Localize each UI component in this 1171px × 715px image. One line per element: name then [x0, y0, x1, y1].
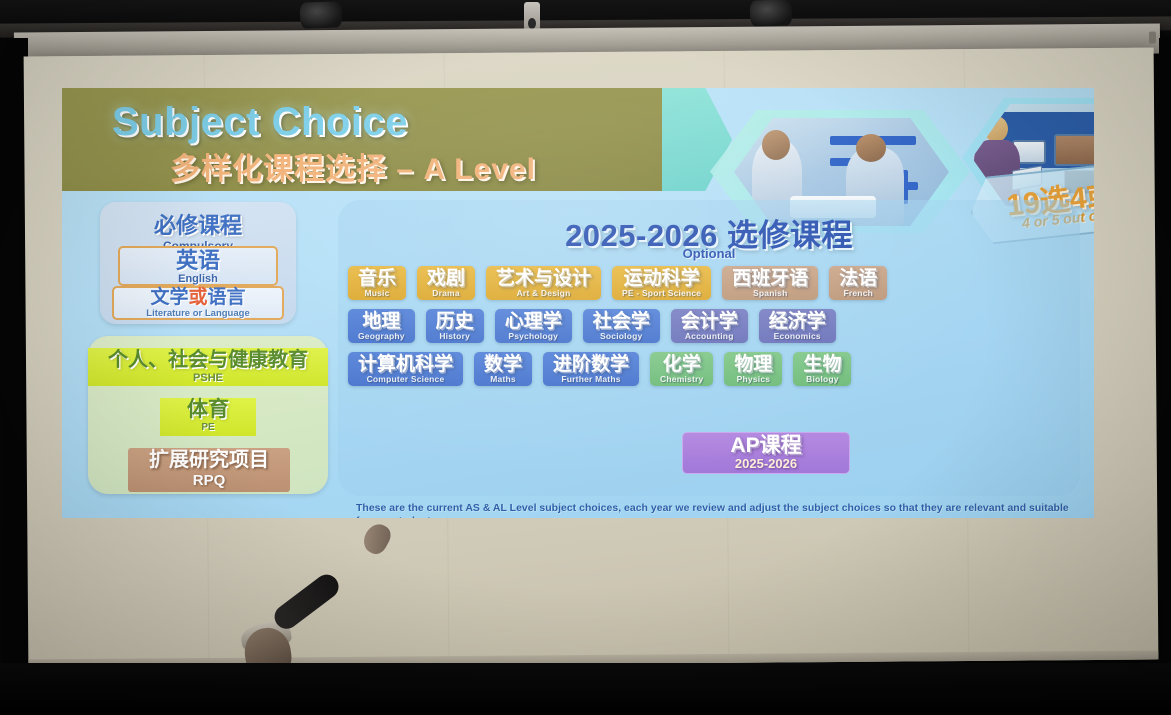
subject-chip-sociology[interactable]: 社会学Sociology	[583, 309, 660, 343]
subject-chip-chinese: 法语	[839, 269, 877, 288]
subject-chip-chinese: 计算机科学	[358, 355, 453, 374]
subject-chip-english: History	[439, 331, 470, 341]
subject-chip-chinese: 社会学	[593, 312, 650, 331]
rpq-chinese: 扩展研究项目	[128, 448, 290, 472]
subject-chip-economics[interactable]: 经济学Economics	[759, 309, 836, 343]
subject-chip-accounting[interactable]: 会计学Accounting	[671, 309, 748, 343]
subject-chip-chinese: 生物	[803, 355, 841, 374]
compulsory-heading-chinese: 必修课程	[100, 208, 296, 240]
subject-pe: 体育 PE	[160, 398, 256, 436]
subject-chip-chinese: 经济学	[769, 312, 826, 331]
rpq-label: RPQ	[128, 472, 290, 489]
subject-literature-chinese: 文学或语言	[114, 288, 282, 308]
subject-chip-english: Sociology	[600, 331, 642, 341]
subject-chip-english: Accounting	[685, 331, 734, 341]
subject-chip-chinese: 历史	[436, 312, 474, 331]
presentation-slide: Subject Choice 多样化课程选择 – A Level 19选4或5 …	[62, 88, 1094, 518]
subject-chip-drama[interactable]: 戏剧Drama	[417, 266, 475, 300]
subject-literature-or-language: 文学或语言 Literature or Language	[112, 286, 284, 320]
pshe-label: PSHE	[88, 372, 328, 384]
slide-title-chinese: 多样化课程选择 – A Level	[170, 144, 536, 188]
subject-chip-chinese: 进阶数学	[553, 355, 629, 374]
subject-chip-chinese: 地理	[362, 312, 400, 331]
subject-chip-chinese: 数学	[484, 355, 522, 374]
core-curriculum-card: 个人、社会与健康教育 PSHE 体育 PE 扩展研究项目 RPQ	[88, 336, 328, 494]
subject-english: 英语 English	[118, 246, 278, 286]
ap-course-chip: AP课程 2025-2026	[682, 432, 850, 474]
subject-chip-english: Physics	[737, 374, 771, 384]
subject-chip-physics[interactable]: 物理Physics	[724, 352, 782, 386]
subject-chip-chinese: 音乐	[358, 269, 396, 288]
subject-chip-music[interactable]: 音乐Music	[348, 266, 406, 300]
pe-chinese: 体育	[160, 398, 256, 422]
subject-chip-english: Art & Design	[517, 288, 571, 298]
subject-chip-english: Drama	[432, 288, 459, 298]
subject-chip-english: Economics	[774, 331, 821, 341]
slide-footnote: These are the current AS & AL Level subj…	[356, 502, 1074, 518]
subject-chip-biology[interactable]: 生物Biology	[793, 352, 851, 386]
subject-chip-english: French	[843, 288, 873, 298]
subject-chip-chinese: 戏剧	[427, 269, 465, 288]
ceiling-speaker-icon	[750, 0, 793, 27]
subject-chip-english: Computer Science	[367, 374, 445, 384]
subject-chip-english: Music	[364, 288, 389, 298]
subject-literature-label: Literature or Language	[114, 308, 282, 319]
subject-chip-computer-science[interactable]: 计算机科学Computer Science	[348, 352, 463, 386]
subject-chip-chinese: 心理学	[505, 312, 562, 331]
room-floor-dark	[0, 663, 1171, 715]
subject-english-label: English	[120, 273, 276, 285]
pshe-chinese: 个人、社会与健康教育	[88, 348, 328, 372]
subject-chip-english: Psychology	[508, 331, 558, 341]
pe-label: PE	[160, 422, 256, 433]
subject-row: 地理Geography历史History心理学Psychology社会学Soci…	[338, 309, 1080, 343]
subject-chip-art-design[interactable]: 艺术与设计Art & Design	[486, 266, 601, 300]
subject-chip-english: Biology	[806, 374, 839, 384]
subject-pshe: 个人、社会与健康教育 PSHE	[88, 348, 328, 386]
subject-chip-history[interactable]: 历史History	[426, 309, 484, 343]
subject-english-chinese: 英语	[120, 249, 276, 273]
ap-course-years: 2025-2026	[735, 456, 797, 471]
subject-row: 计算机科学Computer Science数学Maths进阶数学Further …	[338, 352, 1080, 386]
subject-chip-french[interactable]: 法语French	[829, 266, 887, 300]
compulsory-card: 必修课程 Compulsory 英语 English 文学或语言 Literat…	[100, 202, 296, 324]
subject-chip-chemistry[interactable]: 化学Chemistry	[650, 352, 713, 386]
ceiling-speaker-icon	[300, 1, 343, 28]
optional-heading-english: Optional	[338, 246, 1080, 261]
room-dark-right	[1159, 38, 1171, 715]
subject-chip-pe-sport-science[interactable]: 运动科学PE - Sport Science	[612, 266, 711, 300]
subject-chip-chinese: 艺术与设计	[496, 269, 591, 288]
subject-chip-geography[interactable]: 地理Geography	[348, 309, 415, 343]
subject-chip-psychology[interactable]: 心理学Psychology	[495, 309, 572, 343]
subject-chip-english: Maths	[490, 374, 516, 384]
subject-rpq: 扩展研究项目 RPQ	[128, 448, 290, 492]
subject-chip-english: PE - Sport Science	[622, 288, 701, 298]
roller-endcap	[1149, 32, 1156, 44]
subject-chip-english: Geography	[358, 331, 405, 341]
subject-chip-chinese: 会计学	[681, 312, 738, 331]
subject-chip-spanish[interactable]: 西班牙语Spanish	[722, 266, 818, 300]
ap-course-chinese: AP课程	[730, 436, 801, 456]
subject-chip-chinese: 化学	[663, 355, 701, 374]
subject-chip-maths[interactable]: 数学Maths	[474, 352, 532, 386]
subject-chip-further-maths[interactable]: 进阶数学Further Maths	[543, 352, 639, 386]
subject-chip-chinese: 运动科学	[624, 269, 700, 288]
subject-chip-english: Further Maths	[561, 374, 620, 384]
subject-row: 音乐Music戏剧Drama艺术与设计Art & Design运动科学PE - …	[338, 266, 1080, 300]
subject-chip-grid: 音乐Music戏剧Drama艺术与设计Art & Design运动科学PE - …	[338, 266, 1080, 395]
slide-title-english: Subject Choice	[112, 100, 408, 145]
lecture-room-photo: Subject Choice 多样化课程选择 – A Level 19选4或5 …	[0, 0, 1171, 715]
subject-chip-english: Chemistry	[660, 374, 703, 384]
subject-chip-chinese: 物理	[734, 355, 772, 374]
subject-chip-english: Spanish	[753, 288, 787, 298]
subject-chip-chinese: 西班牙语	[732, 269, 808, 288]
footnote-english: These are the current AS & AL Level subj…	[356, 502, 1074, 518]
optional-subjects-panel: 2025-2026 选修课程 Optional 音乐Music戏剧Drama艺术…	[338, 200, 1080, 496]
